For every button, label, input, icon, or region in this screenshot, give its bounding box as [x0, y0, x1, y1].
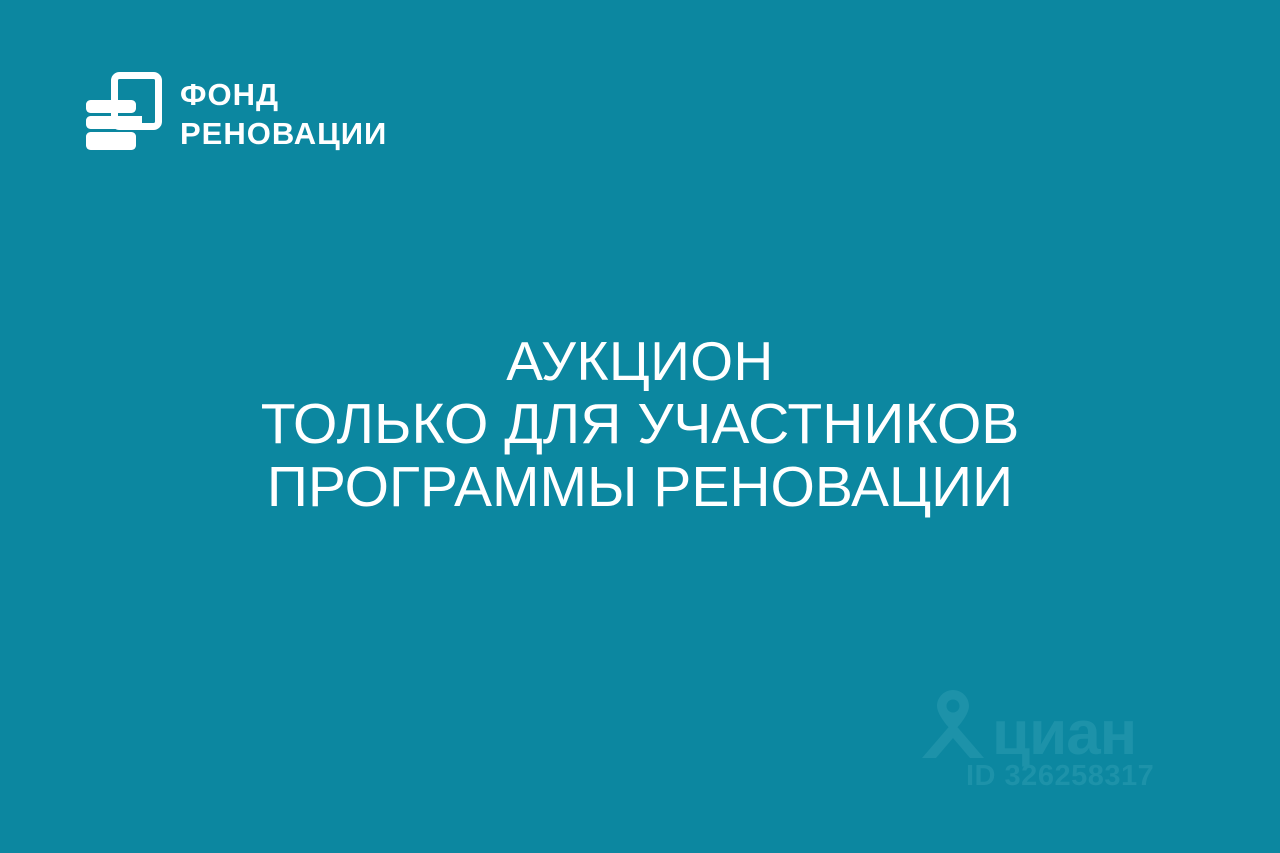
- listing-image-canvas: ФОНД РЕНОВАЦИИ АУКЦИОН ТОЛЬКО ДЛЯ УЧАСТН…: [0, 0, 1280, 853]
- cian-watermark-row: циан: [920, 688, 1136, 760]
- headline-block: АУКЦИОН ТОЛЬКО ДЛЯ УЧАСТНИКОВ ПРОГРАММЫ …: [0, 330, 1280, 519]
- cian-pin-roof-icon: [920, 688, 986, 760]
- headline-line-1: АУКЦИОН: [0, 330, 1280, 393]
- cian-brand-name: циан: [992, 707, 1136, 760]
- stacked-building-blocks-icon: [84, 72, 162, 156]
- headline-line-3: ПРОГРАММЫ РЕНОВАЦИИ: [0, 456, 1280, 519]
- brand-wordmark: ФОНД РЕНОВАЦИИ: [180, 79, 387, 149]
- headline-line-2: ТОЛЬКО ДЛЯ УЧАСТНИКОВ: [0, 393, 1280, 456]
- cian-watermark: циан ID 326258317: [920, 688, 1150, 793]
- fond-renovacii-logo: ФОНД РЕНОВАЦИИ: [84, 72, 387, 156]
- cian-listing-id: ID 326258317: [966, 760, 1154, 793]
- brand-line-2: РЕНОВАЦИИ: [180, 118, 387, 149]
- brand-line-1: ФОНД: [180, 79, 387, 110]
